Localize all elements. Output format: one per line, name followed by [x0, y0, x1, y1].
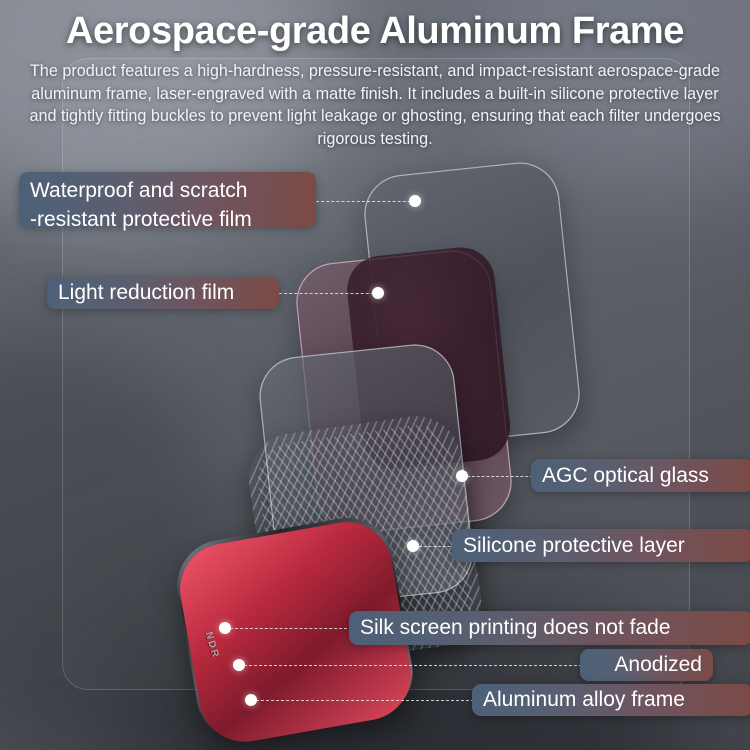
- leader-line-aluminum-frame: [256, 700, 474, 701]
- layer-agc-optical-glass: [255, 340, 476, 609]
- anchor-dot-aluminum-frame: [245, 694, 257, 706]
- leader-line-anodized: [244, 665, 582, 666]
- callout-anodized[interactable]: Anodized: [580, 649, 713, 681]
- page-title: Aerospace-grade Aluminum Frame: [0, 10, 750, 53]
- callout-waterproof-film[interactable]: Waterproof and scratch -resistant protec…: [19, 172, 316, 227]
- callout-agc-optical-glass[interactable]: AGC optical glass: [531, 459, 750, 492]
- leader-line-silk-screen: [230, 628, 352, 629]
- anchor-dot-silk-screen: [219, 622, 231, 634]
- callout-light-reduction-film-label: Light reduction film: [58, 279, 234, 307]
- callout-aluminum-alloy-frame-label: Aluminum alloy frame: [483, 686, 685, 714]
- page-description: The product features a high-hardness, pr…: [16, 60, 734, 150]
- shadow-blob-left: [0, 330, 220, 750]
- anchor-dot-anodized: [233, 659, 245, 671]
- callout-aluminum-alloy-frame[interactable]: Aluminum alloy frame: [472, 684, 750, 716]
- callout-light-reduction-film[interactable]: Light reduction film: [47, 277, 279, 309]
- callout-silicone-protective-layer[interactable]: Silicone protective layer: [452, 529, 750, 562]
- callout-anodized-label: Anodized: [614, 651, 702, 679]
- callout-agc-optical-glass-label: AGC optical glass: [542, 462, 709, 490]
- silk-screen-engraving: NDR: [203, 631, 221, 661]
- callout-silk-screen-printing-label: Silk screen printing does not fade: [360, 614, 671, 642]
- callout-waterproof-film-line2: -resistant protective film: [30, 205, 305, 234]
- callout-silicone-protective-layer-label: Silicone protective layer: [463, 532, 685, 560]
- product-infographic: Aerospace-grade Aluminum Frame The produ…: [0, 0, 750, 750]
- callout-waterproof-film-line1: Waterproof and scratch: [30, 176, 305, 205]
- callout-silk-screen-printing[interactable]: Silk screen printing does not fade: [349, 611, 750, 645]
